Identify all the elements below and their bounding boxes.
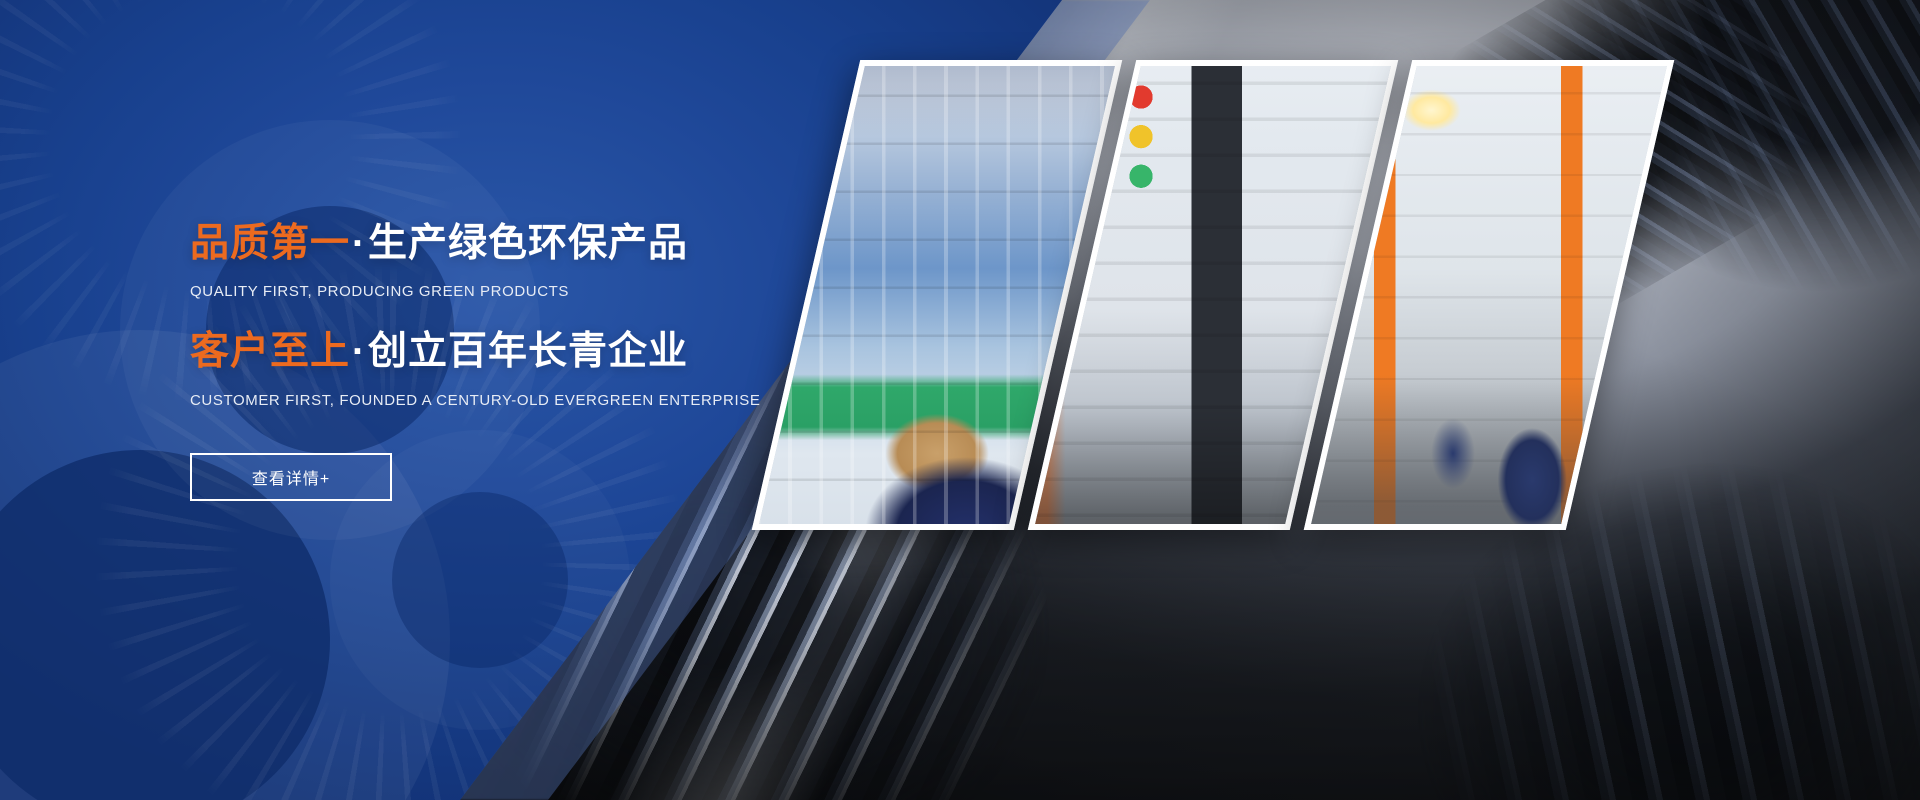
headline-1-highlight: 品质第一 bbox=[190, 222, 350, 265]
headline-2: 客户至上·创立百年长青企业 bbox=[190, 330, 910, 374]
headline-1-separator: · bbox=[350, 222, 368, 265]
headline-spacer bbox=[190, 300, 910, 330]
headline-1-rest: 生产绿色环保产品 bbox=[368, 222, 688, 265]
hero-banner: 品质第一·生产绿色环保产品 QUALITY FIRST, PRODUCING G… bbox=[0, 0, 1920, 800]
subtitle-1: QUALITY FIRST, PRODUCING GREEN PRODUCTS bbox=[190, 283, 910, 300]
headline-2-separator: · bbox=[350, 330, 368, 373]
view-details-button[interactable]: 查看详情+ bbox=[190, 453, 392, 501]
headline-2-highlight: 客户至上 bbox=[190, 330, 350, 373]
hero-copy: 品质第一·生产绿色环保产品 QUALITY FIRST, PRODUCING G… bbox=[190, 222, 910, 501]
headline-1: 品质第一·生产绿色环保产品 bbox=[190, 222, 910, 266]
subtitle-2: CUSTOMER FIRST, FOUNDED A CENTURY-OLD EV… bbox=[190, 392, 910, 409]
headline-2-rest: 创立百年长青企业 bbox=[368, 330, 688, 373]
